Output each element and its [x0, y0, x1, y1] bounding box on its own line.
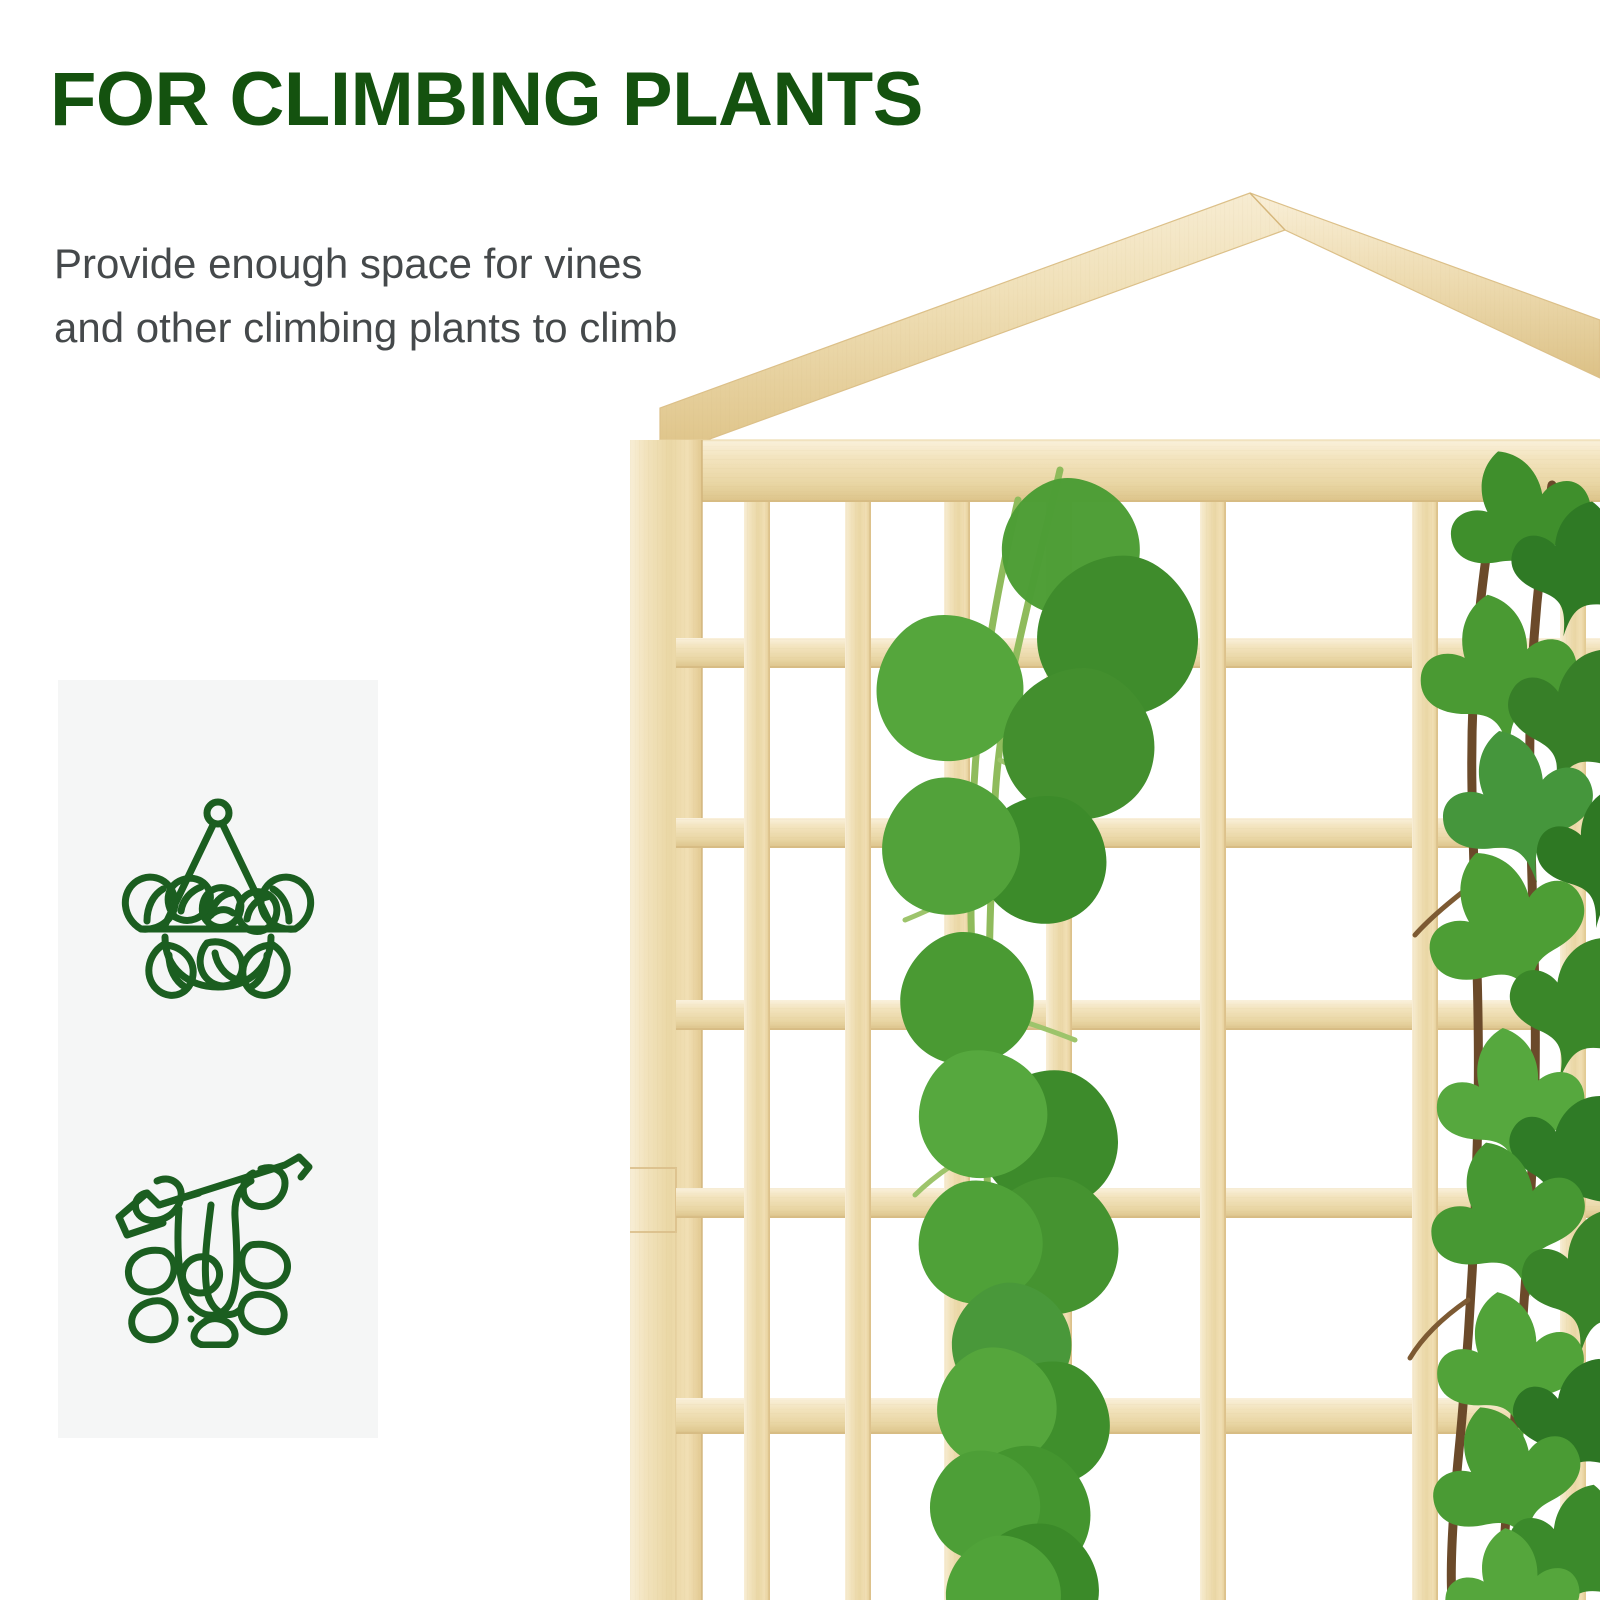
icon-slot-hanging-planter — [58, 742, 378, 1072]
climbing-vine-on-rod-icon — [103, 1143, 333, 1348]
icon-slot-climbing-vine — [58, 1080, 378, 1410]
promo-image-canvas: FOR CLIMBING PLANTS Provide enough space… — [0, 0, 1600, 1600]
page-subtitle: Provide enough space for vines and other… — [54, 232, 694, 360]
hanging-planter-vine-icon — [103, 797, 333, 1017]
feature-icon-panel — [58, 680, 378, 1438]
page-title: FOR CLIMBING PLANTS — [50, 62, 923, 138]
trellis-top-rail — [660, 440, 1600, 502]
trellis-roof — [660, 193, 1600, 440]
